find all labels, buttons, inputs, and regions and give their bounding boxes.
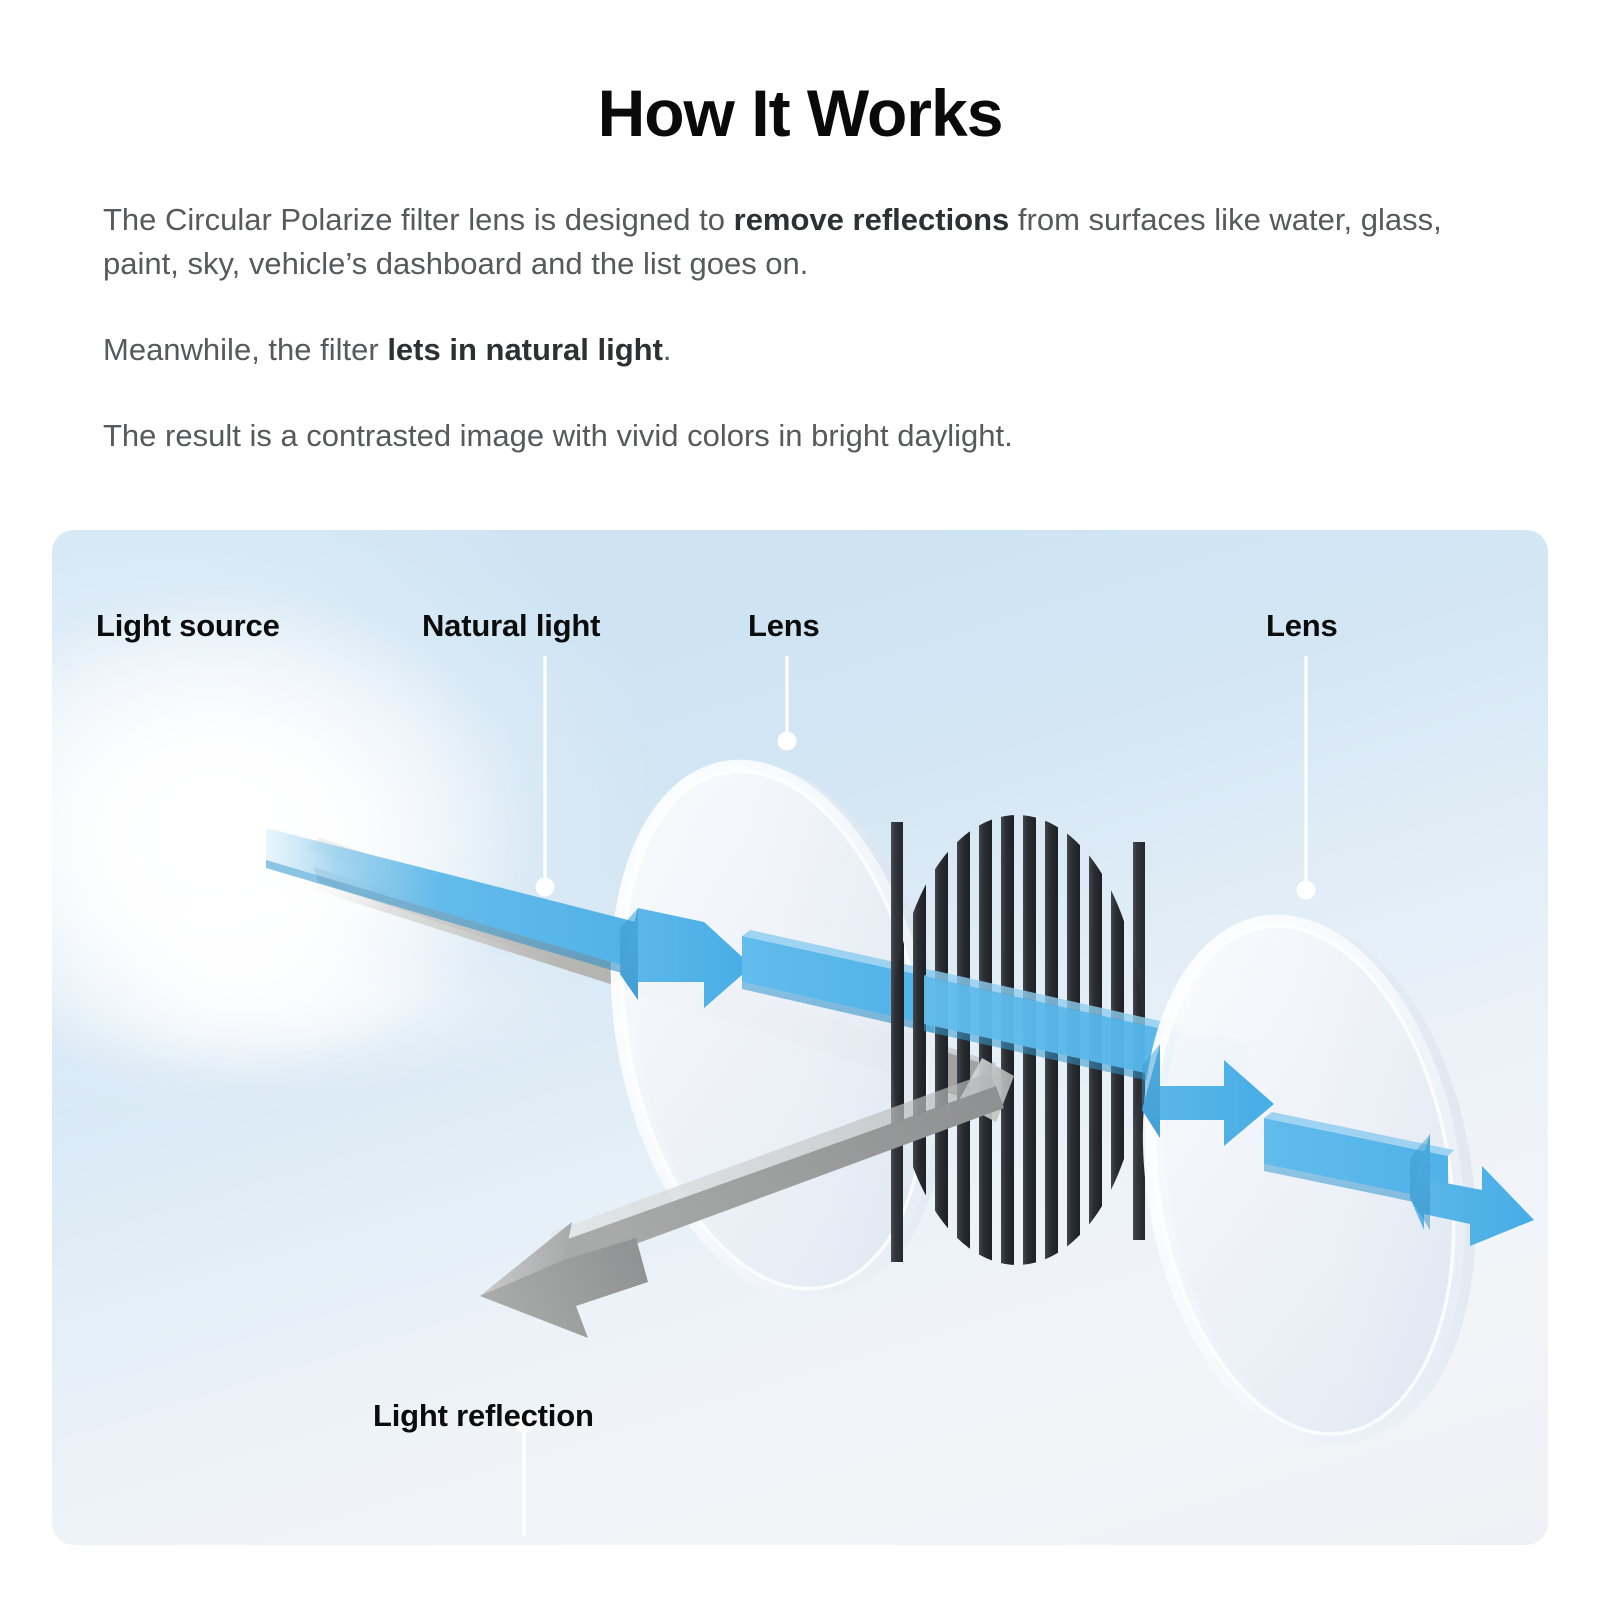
label-lens-front: Lens (748, 608, 820, 644)
intro-copy-block: The Circular Polarize filter lens is des… (103, 198, 1503, 458)
polarizer-diagram-svg (52, 530, 1548, 1545)
page-root: How It Works The Circular Polarize filte… (0, 0, 1600, 1600)
label-natural-light: Natural light (422, 608, 600, 644)
how-it-works-illustration-panel (52, 530, 1548, 1545)
paragraph-1: The Circular Polarize filter lens is des… (103, 198, 1503, 286)
paragraph-2: Meanwhile, the filter lets in natural li… (103, 328, 1503, 372)
page-title: How It Works (0, 78, 1600, 149)
leader-dot-natural-light (536, 878, 555, 897)
label-light-source: Light source (96, 608, 280, 644)
leader-dot-lens-2 (1297, 881, 1316, 900)
paragraph-3: The result is a contrasted image with vi… (103, 414, 1503, 458)
label-light-reflection: Light reflection (373, 1398, 594, 1434)
label-lens-back: Lens (1266, 608, 1338, 644)
leader-dot-lens-1 (778, 732, 797, 751)
